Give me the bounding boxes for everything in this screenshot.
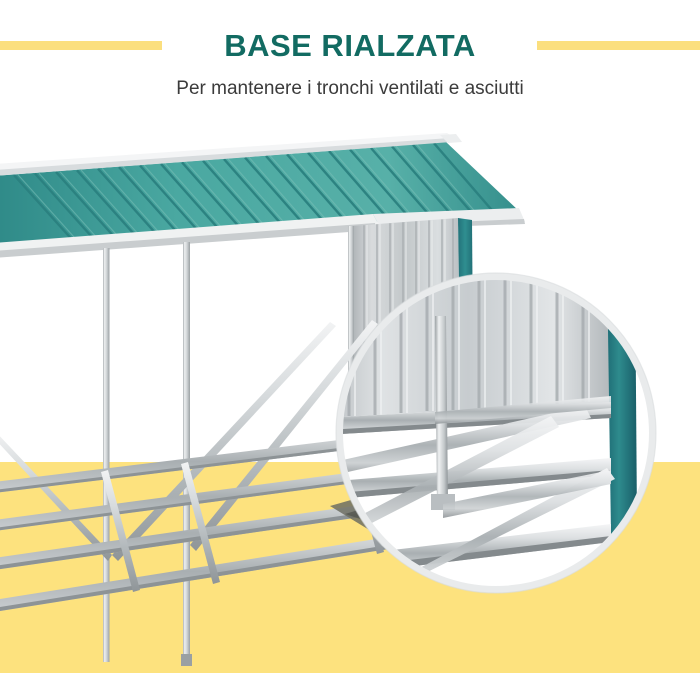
page-root: BASE RIALZATA Per mantenere i tronchi ve… (0, 0, 700, 700)
detail-magnifier-circle (335, 272, 657, 594)
front-post-mid (183, 242, 190, 666)
diagonal-brace-left (0, 430, 112, 561)
front-post-left (103, 248, 110, 662)
page-subtitle: Per mantenere i tronchi ventilati e asci… (0, 76, 700, 102)
page-title: BASE RIALZATA (0, 23, 700, 68)
header: BASE RIALZATA Per mantenere i tronchi ve… (0, 0, 700, 130)
magnified-teal-edge (607, 272, 637, 534)
